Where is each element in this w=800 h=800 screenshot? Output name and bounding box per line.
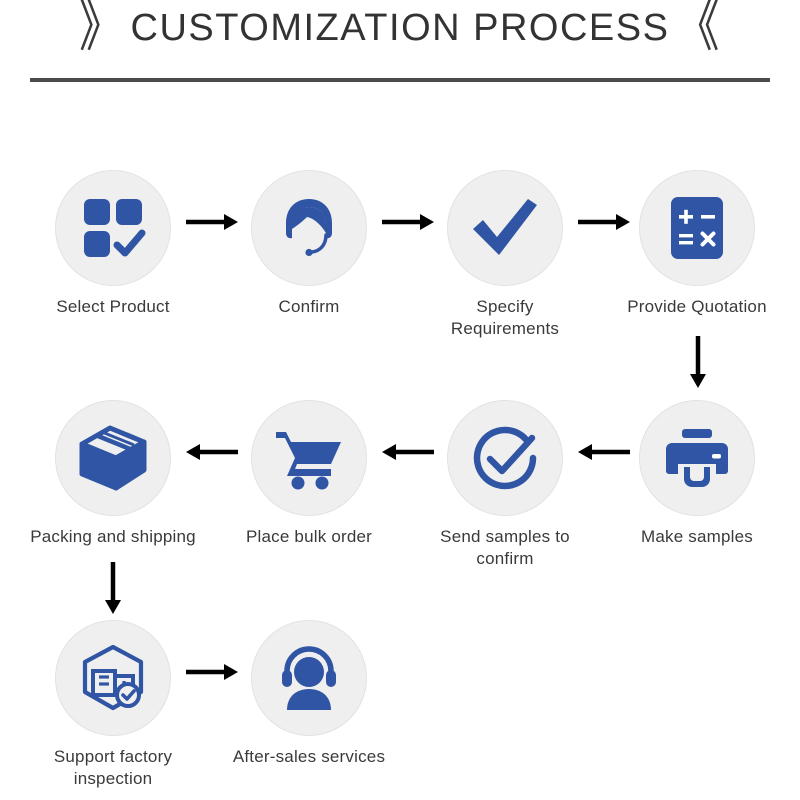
- flow-step-icon-circle: [55, 170, 171, 286]
- flow-step-specify-requirements[interactable]: Specify Requirements: [420, 170, 590, 340]
- circle-check-icon: [469, 422, 541, 494]
- package-box-icon: [78, 424, 148, 492]
- flow-step-make-samples[interactable]: Make samples: [612, 400, 782, 548]
- header: 》 CUSTOMIZATION PROCESS 《: [0, 6, 800, 50]
- printer-icon: [664, 427, 730, 489]
- flow-step-icon-circle: [639, 400, 755, 516]
- flow-step-label: Specify Requirements: [420, 296, 590, 340]
- double-chevron-left-icon: 《: [675, 1, 721, 56]
- flow-step-label: Support factory inspection: [28, 746, 198, 790]
- headphones-person-icon: [274, 646, 344, 710]
- arrow-row1-to-row2: [688, 336, 708, 388]
- flow-step-confirm[interactable]: Confirm: [224, 170, 394, 318]
- flow-step-label: Make samples: [612, 526, 782, 548]
- shopping-cart-icon: [274, 426, 344, 490]
- page-title-text: CUSTOMIZATION PROCESS: [131, 7, 670, 50]
- flow-step-icon-circle: [55, 400, 171, 516]
- flow-step-place-bulk-order[interactable]: Place bulk order: [224, 400, 394, 548]
- page-title: 》 CUSTOMIZATION PROCESS 《: [79, 6, 721, 50]
- factory-inspection-badge-icon: [78, 643, 148, 713]
- flow-step-label: Send samples to confirm: [420, 526, 590, 570]
- flow-step-support-factory-inspection[interactable]: Support factory inspection: [28, 620, 198, 790]
- title-divider: [30, 78, 770, 82]
- double-chevron-right-icon: 》: [79, 1, 125, 56]
- flow-step-send-samples-to-confirm[interactable]: Send samples to confirm: [420, 400, 590, 570]
- calculator-icon: [669, 195, 725, 261]
- flow-step-label: Select Product: [28, 296, 198, 318]
- flow-step-icon-circle: [639, 170, 755, 286]
- flow-step-icon-circle: [251, 400, 367, 516]
- flow-step-provide-quotation[interactable]: Provide Quotation: [612, 170, 782, 318]
- flow-step-label: Provide Quotation: [612, 296, 782, 318]
- flow-step-label: After-sales services: [224, 746, 394, 768]
- flow-step-icon-circle: [447, 400, 563, 516]
- support-agent-headset-icon: [274, 193, 344, 263]
- flow-step-icon-circle: [55, 620, 171, 736]
- flow-step-icon-circle: [251, 620, 367, 736]
- flow-step-packing-and-shipping[interactable]: Packing and shipping: [28, 400, 198, 548]
- checkmark-icon: [470, 197, 540, 259]
- flow-step-after-sales-services[interactable]: After-sales services: [224, 620, 394, 768]
- flow-step-icon-circle: [251, 170, 367, 286]
- flow-step-label: Packing and shipping: [28, 526, 198, 548]
- flow-step-icon-circle: [447, 170, 563, 286]
- grid-check-icon: [80, 195, 146, 261]
- flow-step-label: Place bulk order: [224, 526, 394, 548]
- arrow-row2-to-row3: [103, 562, 123, 614]
- flow-step-label: Confirm: [224, 296, 394, 318]
- flow-step-select-product[interactable]: Select Product: [28, 170, 198, 318]
